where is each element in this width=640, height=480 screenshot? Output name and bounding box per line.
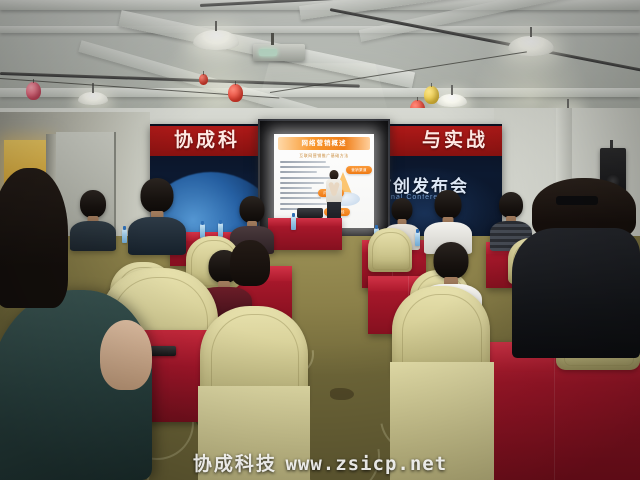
pendant-lamp	[193, 30, 239, 50]
foreground-attendee-head	[0, 168, 68, 308]
slide-text-line	[280, 182, 324, 184]
balloon-pink	[26, 82, 41, 100]
slide-header-bar: 网络营销概述	[278, 137, 370, 150]
ceiling	[0, 0, 640, 124]
ceiling-projector	[253, 44, 305, 61]
slide-text-line	[280, 197, 321, 199]
slide-text-line	[280, 187, 312, 189]
water-bottle	[122, 229, 127, 243]
watermark: 协成科技 www.zsicp.net	[0, 449, 640, 476]
laptop	[297, 208, 323, 218]
eyeglasses	[556, 196, 598, 205]
balloon-red	[228, 84, 243, 102]
watermark-url: www.zsicp.net	[285, 453, 447, 475]
balloon-yellow	[424, 86, 439, 104]
foreground-hand	[100, 320, 152, 390]
slide-title: 网络营销概述	[278, 137, 370, 150]
pendant-lamp	[437, 94, 467, 107]
pendant-lamp	[78, 92, 108, 105]
watermark-cn: 协成科技	[193, 453, 277, 475]
presentation-slide: 网络营销概述 互联网营销推广基础方法 营销渠道 内容运营 转化路径	[274, 134, 374, 228]
balloon-red	[199, 74, 208, 85]
slide-text-line	[280, 171, 317, 173]
slide-tag: 营销渠道	[346, 166, 372, 174]
foreground-attendee-right	[512, 228, 640, 358]
slide-text-line	[280, 203, 327, 205]
slide-text-block	[280, 161, 332, 213]
water-bottle	[218, 223, 223, 237]
slide-subtitle: 互联网营销推广基础方法	[274, 153, 374, 159]
conference-room-photo: 协成科 与实战 下首创发布会 1st Original Conference 网…	[0, 0, 640, 480]
attendee	[70, 190, 116, 250]
slide-text-line	[280, 166, 330, 168]
banner-title-left: 协成科	[174, 127, 240, 155]
water-bottle	[291, 216, 296, 230]
conference-table	[268, 218, 342, 250]
attendee-head	[230, 240, 270, 286]
banner-title-right: 与实战	[422, 127, 488, 155]
slide-text-line	[280, 161, 326, 163]
attendee	[128, 178, 186, 252]
banquet-chair	[368, 228, 412, 272]
slide-text-line	[280, 177, 332, 179]
smartphone	[150, 346, 176, 356]
